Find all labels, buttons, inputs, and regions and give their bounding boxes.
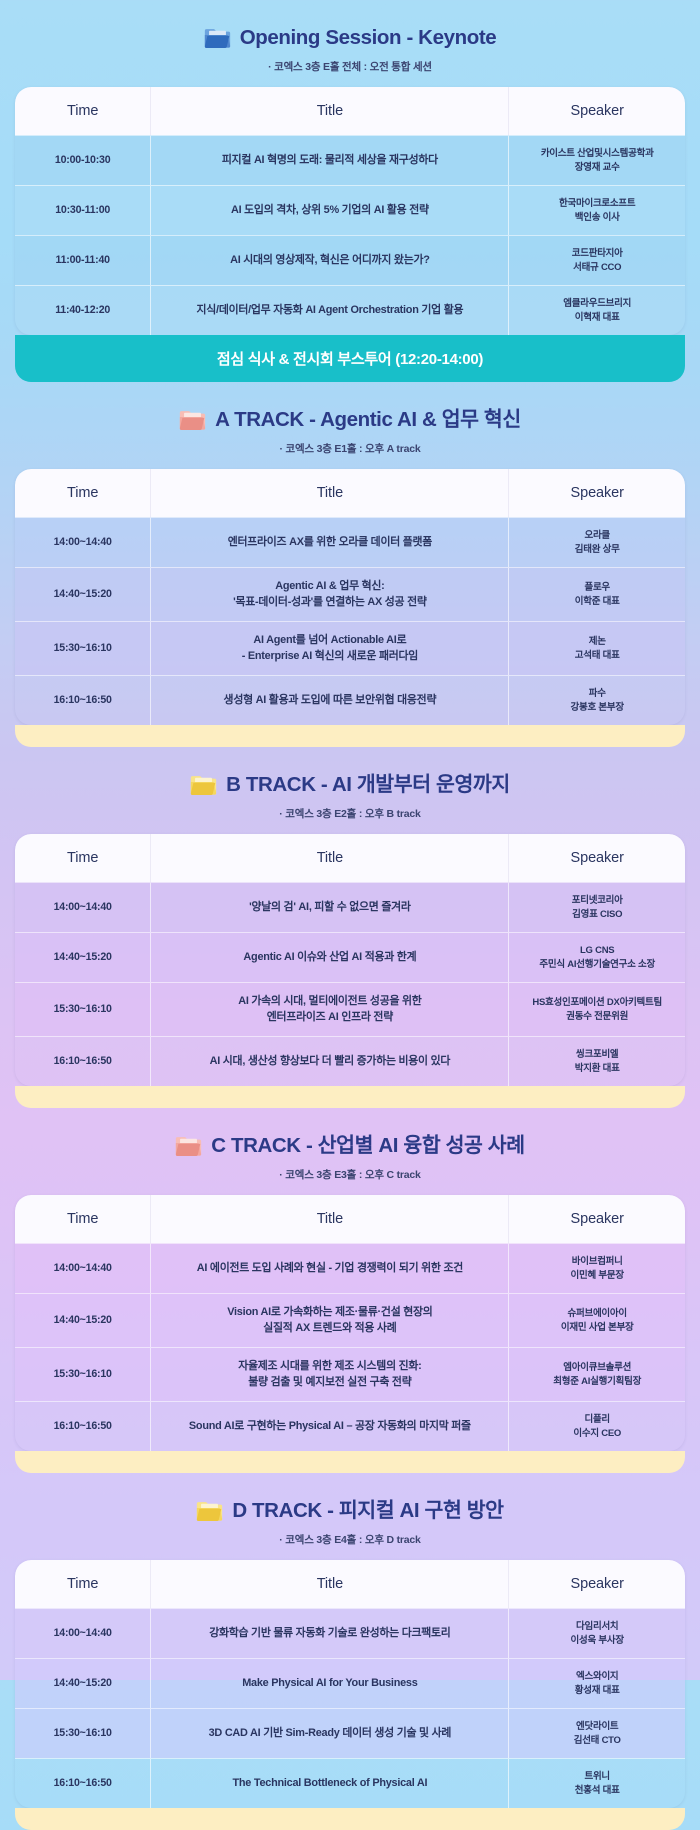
session-title: 엔터프라이즈 AX를 위한 오라클 데이터 플랫폼	[150, 518, 509, 567]
speaker-org: 트위니	[584, 1771, 609, 1782]
session-title: 자율제조 시대를 위한 제조 시스템의 진화:불량 검출 및 예지보전 실전 구…	[150, 1348, 509, 1401]
column-header-speaker: Speaker	[509, 469, 685, 518]
speaker-org: 오라클	[584, 530, 609, 541]
lunch-banner: 점심 식사 & 전시회 부스투어 (12:20-14:00)	[15, 335, 685, 382]
session-time: 15:30~16:10	[15, 983, 150, 1036]
session-title: AI 도입의 격차, 상위 5% 기업의 AI 활용 전략	[150, 186, 509, 235]
session-title-line2: - Enterprise AI 혁신의 새로운 패러다임	[242, 650, 418, 662]
session-speaker: 바이브컴퍼니이민혜 부문장	[509, 1244, 685, 1293]
table-row[interactable]: 15:30~16:10AI 가속의 시대, 멀티에이전트 성공을 위한엔터프라이…	[15, 982, 685, 1036]
table-header-row: TimeTitleSpeaker	[15, 1195, 685, 1244]
section-footer-strip-track-d	[15, 1808, 685, 1830]
session-title-line1: The Technical Bottleneck of Physical AI	[232, 1777, 427, 1789]
speaker-org: 제논	[589, 636, 606, 647]
speaker-org: 디플리	[584, 1414, 609, 1425]
session-title-line1: 3D CAD AI 기반 Sim-Ready 데이터 생성 기술 및 사례	[209, 1727, 452, 1739]
column-header-speaker: Speaker	[509, 1195, 685, 1244]
session-time: 11:00-11:40	[15, 236, 150, 285]
table-row[interactable]: 16:10~16:50AI 시대, 생산성 향상보다 더 빨리 증가하는 비용이…	[15, 1036, 685, 1086]
speaker-org: 엔닷라이트	[576, 1721, 618, 1732]
column-header-speaker: Speaker	[509, 834, 685, 883]
session-time: 16:10~16:50	[15, 1402, 150, 1451]
folder-icon	[196, 1499, 223, 1522]
session-title-line2: 엔터프라이즈 AI 인프라 전략	[267, 1011, 393, 1023]
speaker-org: HS효성인포메이션 DX아키텍트팀	[532, 997, 662, 1008]
table-header-row: TimeTitleSpeaker	[15, 1560, 685, 1609]
section-track-a: A TRACK - Agentic AI & 업무 혁신· 코엑스 3층 E1홀…	[0, 382, 700, 725]
session-speaker: 제논고석태 대표	[509, 622, 685, 675]
table-row[interactable]: 14:40~15:20Make Physical AI for Your Bus…	[15, 1658, 685, 1708]
column-header-time: Time	[15, 834, 150, 883]
session-title-line1: 생성형 AI 활용과 도입에 따른 보안위협 대응전략	[224, 694, 437, 706]
session-title-line1: AI Agent를 넘어 Actionable AI로	[253, 634, 406, 646]
section-title-track-b: B TRACK - AI 개발부터 운영까지	[15, 773, 685, 797]
speaker-org: 포티넷코리아	[572, 895, 623, 906]
speaker-person: 김선태 CTO	[574, 1735, 621, 1746]
session-time: 16:10~16:50	[15, 1037, 150, 1086]
session-time: 14:40~15:20	[15, 1294, 150, 1347]
session-title-line1: AI 시대, 생산성 향상보다 더 빨리 증가하는 비용이 있다	[210, 1055, 451, 1067]
section-header-track-c: C TRACK - 산업별 AI 융합 성공 사례· 코엑스 3층 E3홀 : …	[15, 1108, 685, 1182]
schedule-page: Opening Session - Keynote· 코엑스 3층 E홀 전체 …	[0, 0, 700, 1830]
speaker-org: 엑스와이지	[576, 1671, 618, 1682]
speaker-org: 파수	[589, 688, 606, 699]
speaker-person: 김태완 상무	[575, 544, 620, 555]
speaker-person: 박지환 대표	[575, 1063, 620, 1074]
session-title: The Technical Bottleneck of Physical AI	[150, 1759, 509, 1808]
section-footer-strip-track-b	[15, 1086, 685, 1108]
speaker-person: 서태규 CCO	[573, 262, 621, 273]
session-time: 15:30~16:10	[15, 622, 150, 675]
speaker-person: 권동수 전문위원	[566, 1011, 628, 1022]
session-speaker: 다임리서치이성욱 부사장	[509, 1609, 685, 1658]
session-title: Agentic AI & 업무 혁신:'목표-데이터-성과'를 연결하는 AX …	[150, 568, 509, 621]
speaker-person: 김영표 CISO	[572, 909, 622, 920]
table-row[interactable]: 16:10~16:50The Technical Bottleneck of P…	[15, 1758, 685, 1808]
session-title-line1: AI 에이전트 도입 사례와 현실 - 기업 경쟁력이 되기 위한 조건	[197, 1262, 463, 1274]
section-title-text: D TRACK - 피지컬 AI 구현 방안	[232, 1499, 503, 1523]
speaker-person: 이혁재 대표	[575, 312, 620, 323]
session-time: 10:00-10:30	[15, 136, 150, 185]
section-title-text: A TRACK - Agentic AI & 업무 혁신	[215, 408, 521, 432]
session-time: 14:00~14:40	[15, 518, 150, 567]
session-title: 강화학습 기반 물류 자동화 기술로 완성하는 다크팩토리	[150, 1609, 509, 1658]
speaker-org: 씽크포비엘	[576, 1049, 618, 1060]
schedule-table-track-c: TimeTitleSpeaker14:00~14:40AI 에이전트 도입 사례…	[15, 1195, 685, 1451]
session-title: Make Physical AI for Your Business	[150, 1659, 509, 1708]
session-title-line1: Agentic AI 이슈와 산업 AI 적용과 한계	[243, 951, 416, 963]
session-title-line1: Vision AI로 가속화하는 제조·물류·건설 현장의	[227, 1306, 432, 1318]
session-speaker: 엠아이큐브솔루션최형준 AI실행기획팀장	[509, 1348, 685, 1401]
column-header-time: Time	[15, 87, 150, 136]
table-row[interactable]: 14:00~14:40엔터프라이즈 AX를 위한 오라클 데이터 플랫폼오라클김…	[15, 517, 685, 567]
session-title-line1: Make Physical AI for Your Business	[242, 1677, 417, 1689]
session-title-line1: AI 시대의 영상제작, 혁신은 어디까지 왔는가?	[230, 254, 430, 266]
schedule-table-keynote: TimeTitleSpeaker10:00-10:30피지컬 AI 혁명의 도래…	[15, 87, 685, 335]
session-title: 3D CAD AI 기반 Sim-Ready 데이터 생성 기술 및 사례	[150, 1709, 509, 1758]
speaker-org: 바이브컴퍼니	[572, 1256, 623, 1267]
speaker-person: 천홍석 대표	[575, 1785, 620, 1796]
session-speaker: 디플리이수지 CEO	[509, 1402, 685, 1451]
session-time: 15:30~16:10	[15, 1709, 150, 1758]
column-header-time: Time	[15, 469, 150, 518]
session-title: 지식/데이터/업무 자동화 AI Agent Orchestration 기업 …	[150, 286, 509, 335]
session-time: 14:40~15:20	[15, 568, 150, 621]
column-header-title: Title	[150, 1195, 509, 1244]
speaker-person: 이성욱 부사장	[571, 1635, 624, 1646]
speaker-org: 코드판타지아	[572, 248, 623, 259]
speaker-org: 다임리서치	[576, 1621, 618, 1632]
session-speaker: 포티넷코리아김영표 CISO	[509, 883, 685, 932]
table-row[interactable]: 14:40~15:20Agentic AI 이슈와 산업 AI 적용과 한계LG…	[15, 932, 685, 982]
folder-icon	[179, 408, 206, 431]
session-title-line2: 실질적 AX 트렌드와 적용 사례	[263, 1322, 396, 1334]
session-speaker: LG CNS주민식 AI선행기술연구소 소장	[509, 933, 685, 982]
session-title: Sound AI로 구현하는 Physical AI – 공장 자동화의 마지막…	[150, 1402, 509, 1451]
folder-icon	[204, 26, 231, 49]
session-title-line1: Agentic AI & 업무 혁신:	[275, 580, 384, 592]
speaker-person: 주민식 AI선행기술연구소 소장	[539, 959, 655, 970]
session-title-line2: '목표-데이터-성과'를 연결하는 AX 성공 전략	[233, 596, 426, 608]
speaker-org: 슈퍼브에이아이	[567, 1308, 626, 1319]
speaker-org: 한국마이크로소프트	[559, 198, 635, 209]
table-row[interactable]: 10:00-10:30피지컬 AI 혁명의 도래: 물리적 세상을 재구성하다카…	[15, 135, 685, 185]
session-time: 14:00~14:40	[15, 1609, 150, 1658]
session-speaker: 트위니천홍석 대표	[509, 1759, 685, 1808]
section-title-text: C TRACK - 산업별 AI 융합 성공 사례	[211, 1134, 524, 1158]
session-title-line1: 피지컬 AI 혁명의 도래: 물리적 세상을 재구성하다	[222, 154, 438, 166]
session-speaker: 엠클라우드브리지이혁재 대표	[509, 286, 685, 335]
session-title: AI 가속의 시대, 멀티에이전트 성공을 위한엔터프라이즈 AI 인프라 전략	[150, 983, 509, 1036]
table-header-row: TimeTitleSpeaker	[15, 834, 685, 883]
section-footer-strip-track-c	[15, 1451, 685, 1473]
section-header-track-d: D TRACK - 피지컬 AI 구현 방안· 코엑스 3층 E4홀 : 오후 …	[15, 1473, 685, 1547]
session-speaker: 슈퍼브에이아이이재민 사업 본부장	[509, 1294, 685, 1347]
speaker-org: 카이스트 산업및시스템공학과	[541, 148, 654, 159]
session-speaker: 엑스와이지황성재 대표	[509, 1659, 685, 1708]
session-time: 11:40-12:20	[15, 286, 150, 335]
session-time: 16:10~16:50	[15, 1759, 150, 1808]
session-title: AI Agent를 넘어 Actionable AI로- Enterprise …	[150, 622, 509, 675]
section-title-track-d: D TRACK - 피지컬 AI 구현 방안	[15, 1499, 685, 1523]
section-subtitle-track-b: · 코엑스 3층 E2홀 : 오후 B track	[15, 806, 685, 821]
session-time: 14:00~14:40	[15, 883, 150, 932]
session-time: 16:10~16:50	[15, 676, 150, 725]
table-row[interactable]: 11:00-11:40AI 시대의 영상제작, 혁신은 어디까지 왔는가?코드판…	[15, 235, 685, 285]
speaker-org: 엠아이큐브솔루션	[563, 1362, 631, 1373]
session-speaker: 오라클김태완 상무	[509, 518, 685, 567]
speaker-person: 강봉호 본부장	[571, 702, 624, 713]
session-time: 14:40~15:20	[15, 933, 150, 982]
table-row[interactable]: 14:00~14:40강화학습 기반 물류 자동화 기술로 완성하는 다크팩토리…	[15, 1608, 685, 1658]
section-title-text: Opening Session - Keynote	[240, 26, 497, 50]
session-title-line1: 지식/데이터/업무 자동화 AI Agent Orchestration 기업 …	[197, 304, 464, 316]
column-header-title: Title	[150, 1560, 509, 1609]
table-header-row: TimeTitleSpeaker	[15, 87, 685, 136]
table-row[interactable]: 14:40~15:20Vision AI로 가속화하는 제조·물류·건설 현장의…	[15, 1293, 685, 1347]
column-header-speaker: Speaker	[509, 87, 685, 136]
session-title-line1: AI 가속의 시대, 멀티에이전트 성공을 위한	[238, 995, 421, 1007]
session-time: 15:30~16:10	[15, 1348, 150, 1401]
table-row[interactable]: 10:30-11:00AI 도입의 격차, 상위 5% 기업의 AI 활용 전략…	[15, 185, 685, 235]
section-title-track-a: A TRACK - Agentic AI & 업무 혁신	[15, 408, 685, 432]
session-title-line1: AI 도입의 격차, 상위 5% 기업의 AI 활용 전략	[231, 204, 429, 216]
table-row[interactable]: 15:30~16:10AI Agent를 넘어 Actionable AI로- …	[15, 621, 685, 675]
section-footer-strip-track-a	[15, 725, 685, 747]
table-header-row: TimeTitleSpeaker	[15, 469, 685, 518]
section-header-track-a: A TRACK - Agentic AI & 업무 혁신· 코엑스 3층 E1홀…	[15, 382, 685, 456]
session-speaker: 플로우이학준 대표	[509, 568, 685, 621]
column-header-time: Time	[15, 1195, 150, 1244]
session-speaker: 한국마이크로소프트백인송 이사	[509, 186, 685, 235]
session-title: 피지컬 AI 혁명의 도래: 물리적 세상을 재구성하다	[150, 136, 509, 185]
folder-icon	[175, 1134, 202, 1157]
table-row[interactable]: 11:40-12:20지식/데이터/업무 자동화 AI Agent Orches…	[15, 285, 685, 335]
session-title: Vision AI로 가속화하는 제조·물류·건설 현장의실질적 AX 트렌드와…	[150, 1294, 509, 1347]
table-row[interactable]: 15:30~16:10자율제조 시대를 위한 제조 시스템의 진화:불량 검출 …	[15, 1347, 685, 1401]
session-title: AI 시대, 생산성 향상보다 더 빨리 증가하는 비용이 있다	[150, 1037, 509, 1086]
session-speaker: 씽크포비엘박지환 대표	[509, 1037, 685, 1086]
column-header-title: Title	[150, 87, 509, 136]
session-title-line2: 불량 검출 및 예지보전 실전 구축 전략	[248, 1376, 411, 1388]
speaker-org: 플로우	[584, 582, 609, 593]
speaker-person: 최형준 AI실행기획팀장	[553, 1376, 641, 1387]
speaker-person: 장영재 교수	[575, 162, 620, 173]
speaker-org: 엠클라우드브리지	[563, 298, 631, 309]
table-row[interactable]: 14:40~15:20Agentic AI & 업무 혁신:'목표-데이터-성과…	[15, 567, 685, 621]
speaker-person: 이민혜 부문장	[571, 1270, 624, 1281]
table-row[interactable]: 15:30~16:103D CAD AI 기반 Sim-Ready 데이터 생성…	[15, 1708, 685, 1758]
speaker-person: 이수지 CEO	[573, 1428, 621, 1439]
speaker-person: 이재민 사업 본부장	[561, 1322, 634, 1333]
schedule-table-track-b: TimeTitleSpeaker14:00~14:40'양날의 검' AI, 피…	[15, 834, 685, 1086]
table-row[interactable]: 14:00~14:40AI 에이전트 도입 사례와 현실 - 기업 경쟁력이 되…	[15, 1243, 685, 1293]
session-time: 10:30-11:00	[15, 186, 150, 235]
section-title-track-c: C TRACK - 산업별 AI 융합 성공 사례	[15, 1134, 685, 1158]
folder-icon	[190, 773, 217, 796]
column-header-speaker: Speaker	[509, 1560, 685, 1609]
table-row[interactable]: 16:10~16:50Sound AI로 구현하는 Physical AI – …	[15, 1401, 685, 1451]
session-speaker: 엔닷라이트김선태 CTO	[509, 1709, 685, 1758]
column-header-time: Time	[15, 1560, 150, 1609]
session-title: AI 시대의 영상제작, 혁신은 어디까지 왔는가?	[150, 236, 509, 285]
section-title-keynote: Opening Session - Keynote	[15, 26, 685, 50]
column-header-title: Title	[150, 834, 509, 883]
section-track-d: D TRACK - 피지컬 AI 구현 방안· 코엑스 3층 E4홀 : 오후 …	[0, 1473, 700, 1808]
session-time: 14:00~14:40	[15, 1244, 150, 1293]
section-subtitle-track-d: · 코엑스 3층 E4홀 : 오후 D track	[15, 1532, 685, 1547]
table-row[interactable]: 14:00~14:40'양날의 검' AI, 피할 수 없으면 즐겨라포티넷코리…	[15, 882, 685, 932]
session-title-line1: 강화학습 기반 물류 자동화 기술로 완성하는 다크팩토리	[209, 1627, 450, 1639]
section-keynote: Opening Session - Keynote· 코엑스 3층 E홀 전체 …	[0, 0, 700, 335]
schedule-table-track-d: TimeTitleSpeaker14:00~14:40강화학습 기반 물류 자동…	[15, 1560, 685, 1808]
session-title-line1: 자율제조 시대를 위한 제조 시스템의 진화:	[238, 1360, 421, 1372]
section-track-b: B TRACK - AI 개발부터 운영까지· 코엑스 3층 E2홀 : 오후 …	[0, 747, 700, 1086]
speaker-person: 황성재 대표	[575, 1685, 620, 1696]
section-track-c: C TRACK - 산업별 AI 융합 성공 사례· 코엑스 3층 E3홀 : …	[0, 1108, 700, 1451]
session-title: Agentic AI 이슈와 산업 AI 적용과 한계	[150, 933, 509, 982]
session-title: '양날의 검' AI, 피할 수 없으면 즐겨라	[150, 883, 509, 932]
section-subtitle-keynote: · 코엑스 3층 E홀 전체 : 오전 통합 세션	[15, 59, 685, 74]
column-header-title: Title	[150, 469, 509, 518]
section-header-keynote: Opening Session - Keynote· 코엑스 3층 E홀 전체 …	[15, 0, 685, 74]
section-subtitle-track-c: · 코엑스 3층 E3홀 : 오후 C track	[15, 1167, 685, 1182]
session-title: 생성형 AI 활용과 도입에 따른 보안위협 대응전략	[150, 676, 509, 725]
session-time: 14:40~15:20	[15, 1659, 150, 1708]
session-title-line1: '양날의 검' AI, 피할 수 없으면 즐겨라	[249, 901, 411, 913]
session-title: AI 에이전트 도입 사례와 현실 - 기업 경쟁력이 되기 위한 조건	[150, 1244, 509, 1293]
speaker-person: 백인송 이사	[575, 212, 620, 223]
table-row[interactable]: 16:10~16:50생성형 AI 활용과 도입에 따른 보안위협 대응전략파수…	[15, 675, 685, 725]
section-header-track-b: B TRACK - AI 개발부터 운영까지· 코엑스 3층 E2홀 : 오후 …	[15, 747, 685, 821]
speaker-org: LG CNS	[580, 945, 614, 956]
session-title-line1: Sound AI로 구현하는 Physical AI – 공장 자동화의 마지막…	[189, 1420, 471, 1432]
session-title-line1: 엔터프라이즈 AX를 위한 오라클 데이터 플랫폼	[228, 536, 432, 548]
session-speaker: 코드판타지아서태규 CCO	[509, 236, 685, 285]
schedule-table-track-a: TimeTitleSpeaker14:00~14:40엔터프라이즈 AX를 위한…	[15, 469, 685, 725]
session-speaker: 카이스트 산업및시스템공학과장영재 교수	[509, 136, 685, 185]
section-title-text: B TRACK - AI 개발부터 운영까지	[226, 773, 510, 797]
session-speaker: HS효성인포메이션 DX아키텍트팀권동수 전문위원	[509, 983, 685, 1036]
session-speaker: 파수강봉호 본부장	[509, 676, 685, 725]
speaker-person: 고석태 대표	[575, 650, 620, 661]
section-subtitle-track-a: · 코엑스 3층 E1홀 : 오후 A track	[15, 441, 685, 456]
speaker-person: 이학준 대표	[575, 596, 620, 607]
